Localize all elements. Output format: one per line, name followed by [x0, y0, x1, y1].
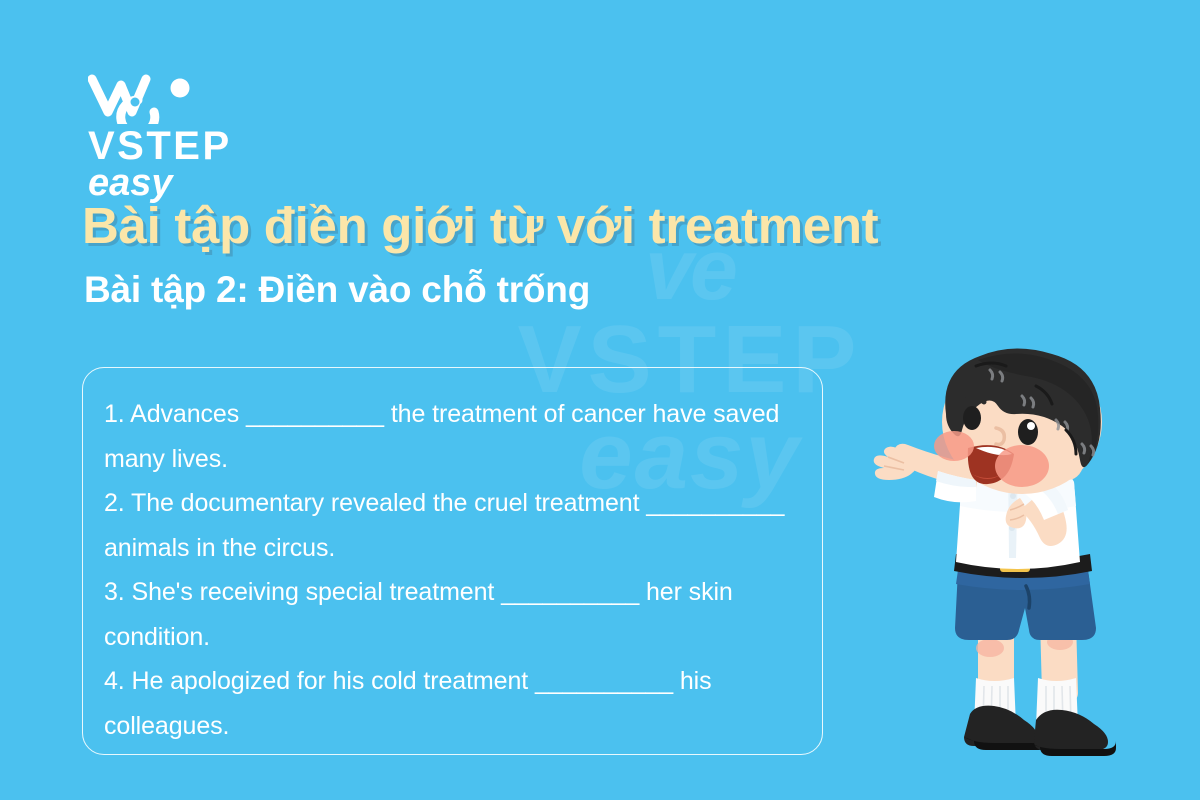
page-title: Bài tập điền giới từ với treatment — [82, 198, 1142, 254]
question-item: 2. The documentary revealed the cruel tr… — [104, 481, 796, 570]
page-subtitle: Bài tập 2: Điền vào chỗ trống — [84, 270, 1084, 311]
logo-text-vstep: VSTEP — [88, 126, 232, 166]
ve-smile-logo-icon — [88, 72, 206, 124]
question-item: 1. Advances __________ the treatment of … — [104, 392, 796, 481]
question-item: 3. She's receiving special treatment ___… — [104, 570, 796, 659]
question-list: 1. Advances __________ the treatment of … — [104, 392, 796, 748]
cartoon-schoolboy-illustration — [850, 348, 1200, 772]
brand-logo[interactable]: VSTEP easy — [88, 72, 232, 202]
poster-canvas: ve VSTEP easy VSTEP easy Bài tập điền gi… — [0, 0, 1200, 800]
schoolboy-svg — [850, 348, 1200, 772]
shorts-group — [955, 570, 1096, 640]
exercise-box: 1. Advances __________ the treatment of … — [82, 367, 823, 755]
question-item: 4. He apologized for his cold treatment … — [104, 659, 796, 748]
